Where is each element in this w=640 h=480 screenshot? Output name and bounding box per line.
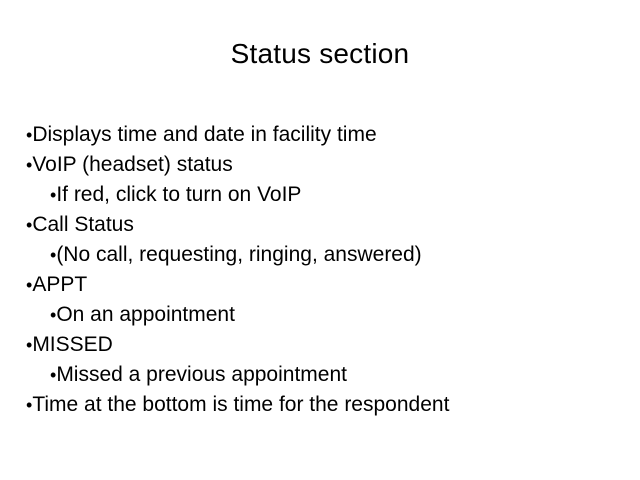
list-item: •Missed a previous appointment [26,360,616,390]
list-item: •If red, click to turn on VoIP [26,180,616,210]
list-item-label: Time at the bottom is time for the respo… [32,393,449,416]
slide: Status section •Displays time and date i… [0,0,640,480]
list-item: •Time at the bottom is time for the resp… [26,390,616,420]
list-item-label: APPT [32,273,87,296]
list-item-label: Displays time and date in facility time [32,123,376,146]
list-item-label: Call Status [32,213,134,236]
list-item: •Displays time and date in facility time [26,120,616,150]
list-item: •APPT [26,270,616,300]
list-item: •MISSED [26,330,616,360]
list-item-label: Missed a previous appointment [56,363,347,386]
list-item-label: If red, click to turn on VoIP [56,183,301,206]
list-item-label: MISSED [32,333,113,356]
list-item-label: VoIP (headset) status [32,153,232,176]
list-item: •On an appointment [26,300,616,330]
list-item-label: (No call, requesting, ringing, answered) [56,243,421,266]
list-item: •(No call, requesting, ringing, answered… [26,240,616,270]
list-item: •VoIP (headset) status [26,150,616,180]
bullet-list: •Displays time and date in facility time… [26,120,616,420]
list-item: •Call Status [26,210,616,240]
page-title: Status section [0,38,640,70]
list-item-label: On an appointment [56,303,235,326]
